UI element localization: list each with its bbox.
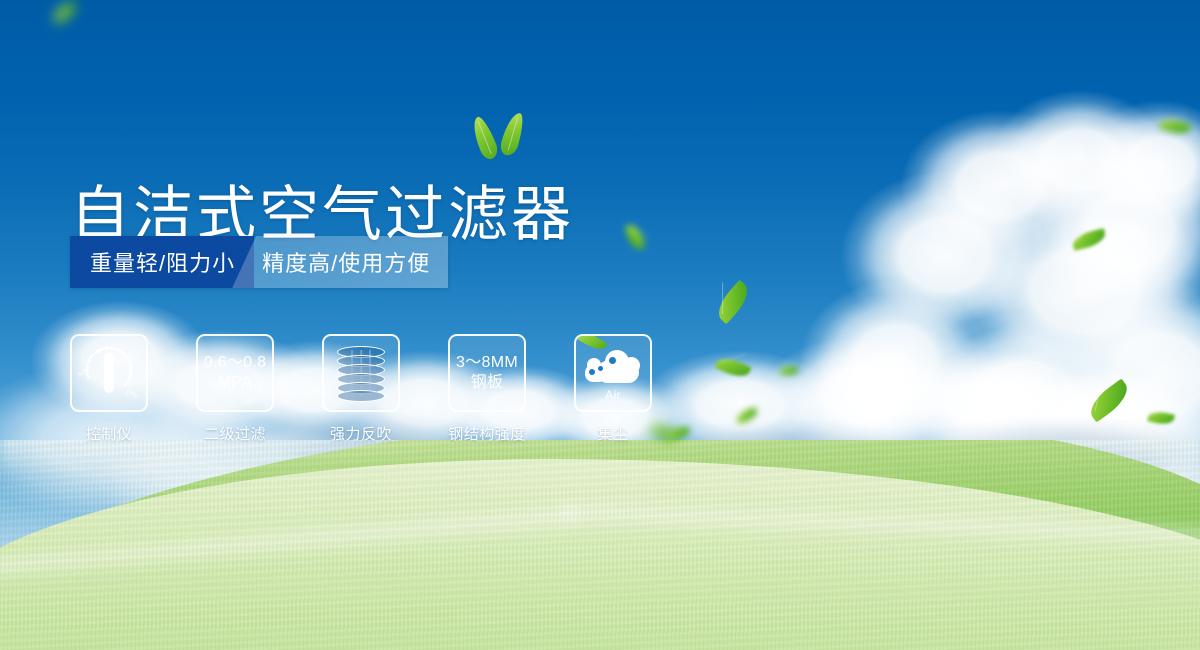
air-leaf-icon: [574, 334, 608, 354]
gauge-dot: [87, 359, 90, 362]
feature-icon-box: Air: [574, 334, 652, 412]
sprout-icon: [470, 108, 540, 168]
badge-primary: 重量轻/阻力小: [70, 236, 254, 288]
feature-icon-box: [322, 334, 400, 412]
feature-label: 集尘: [597, 423, 628, 444]
pressure-line-1: 0.6～0.8: [204, 354, 267, 371]
cloud-big-bump-2: [623, 357, 640, 374]
tagline-badge-strip: 重量轻/阻力小 精度高/使用方便: [70, 236, 448, 288]
feature-item-control-unit[interactable]: NO OFF 控制仪: [70, 334, 148, 444]
air-cloud-icon: Air: [583, 346, 643, 400]
feature-label: 钢结构强度: [448, 423, 526, 444]
badge-secondary-label: 精度高/使用方便: [262, 246, 430, 278]
gauge-dot: [91, 354, 94, 357]
feature-label: 二级过滤: [204, 423, 266, 444]
feature-icon-box: NO OFF: [70, 334, 148, 412]
feature-label: 强力反吹: [330, 423, 392, 444]
steel-line-2: 钢板: [456, 373, 518, 393]
steel-plate-text-icon: 3～8MM 钢板: [456, 353, 518, 393]
feature-label: 控制仪: [86, 423, 133, 444]
sprout-leaf-right-icon: [498, 111, 526, 158]
feature-icon-box: 0.6～0.8 MPA: [196, 334, 274, 412]
gauge-dot: [126, 380, 129, 383]
feature-item-two-stage-filter[interactable]: 0.6～0.8 MPA 二级过滤: [196, 334, 274, 444]
sprout-leaf-left-icon: [468, 114, 500, 161]
cloud-hole-3: [609, 357, 616, 364]
feature-item-steel-strength[interactable]: 3～8MM 钢板 钢结构强度: [448, 334, 526, 444]
cloud-hole-2: [598, 366, 603, 371]
gauge-needle-icon: [104, 353, 114, 393]
gauge-icon: NO OFF: [78, 344, 140, 402]
gauge-off-label: OFF: [124, 388, 140, 401]
feature-item-dust-collection[interactable]: Air 集尘: [574, 334, 652, 444]
gauge-dot: [124, 383, 127, 386]
filter-cartridge-icon: [334, 345, 388, 401]
badge-secondary: 精度高/使用方便: [232, 236, 448, 288]
pressure-text-icon: 0.6～0.8 MPA: [204, 353, 267, 393]
gauge-dot: [87, 376, 90, 379]
steel-line-1: 3～8MM: [456, 354, 518, 371]
feature-item-pulse-jet[interactable]: 强力反吹: [322, 334, 400, 444]
feature-icon-box: 3～8MM 钢板: [448, 334, 526, 412]
product-hero-banner: 自洁式空气过滤器 重量轻/阻力小 精度高/使用方便 NO OFF: [0, 0, 1200, 650]
banner-content: 自洁式空气过滤器 重量轻/阻力小 精度高/使用方便 NO OFF: [0, 0, 1200, 650]
gauge-dot: [86, 363, 89, 366]
cartridge-disc: [337, 390, 385, 402]
cloud-hole-1: [589, 369, 595, 375]
gauge-dot: [106, 346, 109, 349]
badge-primary-label: 重量轻/阻力小: [90, 246, 235, 278]
pressure-line-2: MPA: [204, 373, 267, 393]
feature-list: NO OFF 控制仪 0.6～0.8 MPA 二级过滤: [70, 334, 652, 444]
air-label: Air: [583, 388, 643, 402]
